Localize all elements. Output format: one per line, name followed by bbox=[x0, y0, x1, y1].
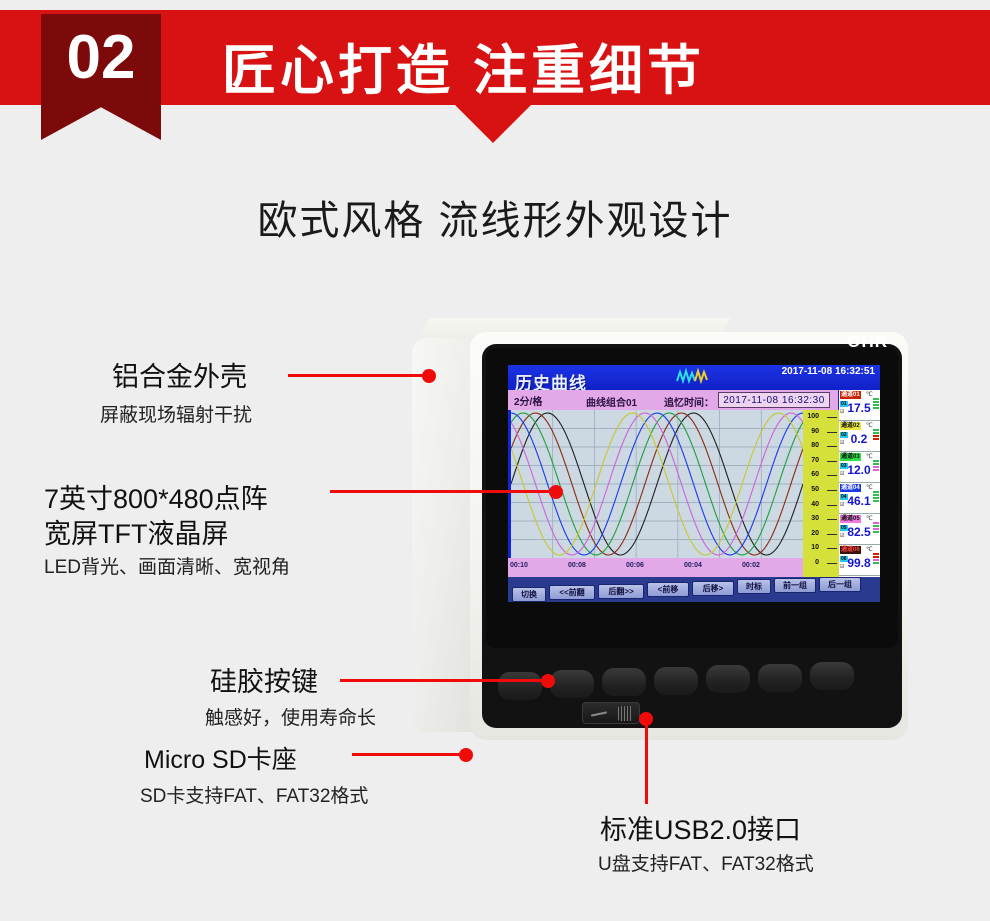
status-bar bbox=[873, 494, 879, 496]
silicone-key[interactable] bbox=[810, 662, 854, 690]
channel-name-tag: 通道05 bbox=[840, 515, 861, 523]
channel-status-bars bbox=[873, 429, 879, 441]
y-axis-tick: 80 bbox=[811, 442, 819, 449]
y-axis-tick-mark bbox=[827, 534, 837, 535]
y-axis-tick: 60 bbox=[811, 471, 819, 478]
channel-value: 17.5 bbox=[847, 401, 871, 415]
channel-unit: ℃ bbox=[866, 422, 873, 429]
x-axis-tick: 00:10 bbox=[510, 562, 528, 569]
y-axis-tick: 50 bbox=[811, 486, 819, 493]
silicone-key[interactable] bbox=[602, 668, 646, 696]
channel-checkbox[interactable]: ☑ bbox=[840, 409, 844, 415]
annotation-usb-title: 标准USB2.0接口 bbox=[600, 808, 801, 847]
silicone-key[interactable] bbox=[550, 670, 594, 698]
channel-name-tag: 通道06 bbox=[840, 546, 861, 554]
recall-time-value[interactable]: 2017-11-08 16:32:30 bbox=[718, 392, 830, 408]
y-axis-strip: 1009080706050403020100 bbox=[803, 410, 839, 577]
y-axis-tick: 20 bbox=[811, 530, 819, 537]
leader-dot-usb bbox=[639, 712, 653, 726]
silicone-key[interactable] bbox=[706, 665, 750, 693]
banner-title: 匠心打造 注重细节 bbox=[222, 26, 705, 105]
leader-dot-keys bbox=[541, 674, 555, 688]
status-bar bbox=[873, 460, 879, 462]
status-bar bbox=[873, 463, 879, 465]
annotation-sdcard-sub: SD卡支持FAT、FAT32格式 bbox=[140, 781, 368, 808]
lcd-info-strip: 2分/格 曲线组合01 追忆时间： 2017-11-08 16:32:30 bbox=[508, 390, 838, 410]
y-axis-tick: 10 bbox=[811, 544, 819, 551]
channel-checkbox[interactable]: ☑ bbox=[840, 533, 844, 539]
channel-unit: ℃ bbox=[866, 546, 873, 553]
silicone-key[interactable] bbox=[498, 672, 542, 700]
status-bar bbox=[873, 528, 879, 530]
status-bar bbox=[873, 407, 879, 409]
channel-row[interactable]: 通道04℃04☑46.1 bbox=[839, 483, 880, 514]
usb-slot bbox=[618, 706, 632, 721]
y-axis-tick-mark bbox=[827, 446, 837, 447]
channel-value: 46.1 bbox=[847, 494, 871, 508]
annotation-screen-sub: LED背光、画面清晰、宽视角 bbox=[44, 552, 290, 579]
silicone-keypad bbox=[498, 662, 888, 702]
status-bar bbox=[873, 497, 879, 499]
status-bar bbox=[873, 553, 879, 555]
lcd-button-0[interactable]: 切换 bbox=[512, 587, 546, 602]
status-bar bbox=[873, 531, 879, 533]
leader-dot-case bbox=[422, 369, 436, 383]
y-axis-tick-mark bbox=[827, 505, 837, 506]
silicone-key[interactable] bbox=[654, 667, 698, 695]
channel-checkbox[interactable]: ☑ bbox=[840, 564, 844, 570]
leader-line-usb bbox=[645, 718, 648, 804]
leader-dot-sdcard bbox=[459, 748, 473, 762]
status-bar bbox=[873, 466, 879, 468]
channel-value: 82.5 bbox=[847, 525, 871, 539]
y-axis-tick-mark bbox=[827, 461, 837, 462]
y-axis-tick-mark bbox=[827, 548, 837, 549]
channel-status-bars bbox=[873, 522, 879, 534]
channel-row[interactable]: 通道01℃01☑17.5 bbox=[839, 390, 880, 421]
annotation-screen-title-2: 宽屏TFT液晶屏 bbox=[44, 512, 228, 551]
status-bar bbox=[873, 559, 879, 561]
channel-panel: 通道01℃01☑17.5通道02℃02☑0.2通道03℃03☑12.0通道04℃… bbox=[839, 390, 880, 577]
channel-name-tag: 通道04 bbox=[840, 484, 861, 492]
channel-name-tag: 通道02 bbox=[840, 422, 861, 430]
y-axis-tick-mark bbox=[827, 417, 837, 418]
banner-notch bbox=[455, 105, 531, 143]
channel-status-bars bbox=[873, 398, 879, 410]
lcd-button-1[interactable]: <<前翻 bbox=[549, 585, 595, 600]
channel-name-tag: 通道03 bbox=[840, 453, 861, 461]
annotation-sdcard-title: Micro SD卡座 bbox=[144, 740, 297, 776]
status-bar bbox=[873, 438, 879, 440]
lcd-clock: 2017-11-08 16:32:51 bbox=[782, 366, 875, 377]
leader-line-keys bbox=[340, 679, 548, 682]
history-curve-plot bbox=[511, 410, 803, 558]
channel-value: 0.2 bbox=[847, 432, 871, 446]
status-bar bbox=[873, 432, 879, 434]
wave-logo-icon bbox=[676, 368, 710, 384]
x-axis-tick: 00:04 bbox=[684, 562, 702, 569]
status-bar bbox=[873, 401, 879, 403]
y-axis-tick: 0 bbox=[815, 559, 819, 566]
section-ribbon: 02 bbox=[41, 14, 161, 140]
usb-port[interactable] bbox=[582, 702, 640, 724]
status-bar bbox=[873, 556, 879, 558]
status-bar bbox=[873, 398, 879, 400]
lcd-button-5[interactable]: 时标 bbox=[737, 579, 771, 594]
status-bar bbox=[873, 429, 879, 431]
status-bar bbox=[873, 404, 879, 406]
channel-row[interactable]: 通道03℃03☑12.0 bbox=[839, 452, 880, 483]
status-bar bbox=[873, 469, 879, 471]
channel-status-bars bbox=[873, 460, 879, 472]
status-bar bbox=[873, 491, 879, 493]
channel-unit: ℃ bbox=[866, 391, 873, 398]
device-illustration: 历史曲线 2017-11-08 16:32:51 2分/格 曲线组合01 追忆时… bbox=[412, 318, 912, 748]
y-axis-tick: 90 bbox=[811, 428, 819, 435]
curve-group-label: 曲线组合01 bbox=[586, 394, 637, 409]
annotation-usb-sub: U盘支持FAT、FAT32格式 bbox=[598, 849, 814, 876]
channel-unit: ℃ bbox=[866, 515, 873, 522]
silicone-key[interactable] bbox=[758, 664, 802, 692]
y-axis-tick-mark bbox=[827, 490, 837, 491]
leader-line-sdcard bbox=[352, 753, 464, 756]
section-number: 02 bbox=[41, 22, 161, 93]
recall-time-label: 追忆时间： bbox=[664, 394, 714, 409]
channel-status-bars bbox=[873, 491, 879, 503]
channel-value: 12.0 bbox=[847, 463, 871, 477]
channel-checkbox[interactable]: ☑ bbox=[840, 502, 844, 508]
y-axis-tick-mark bbox=[827, 432, 837, 433]
lcd-button-2[interactable]: 后翻>> bbox=[598, 584, 644, 599]
x-axis-tick: 00:02 bbox=[742, 562, 760, 569]
channel-row[interactable]: 通道02℃02☑0.2 bbox=[839, 421, 880, 452]
page-subtitle: 欧式风格 流线形外观设计 bbox=[0, 188, 990, 246]
annotation-screen-title-1: 7英寸800*480点阵 bbox=[44, 477, 268, 516]
lcd-button-7[interactable]: 后一组 bbox=[819, 577, 861, 592]
y-axis-tick: 100 bbox=[807, 413, 819, 420]
channel-row[interactable]: 通道05℃05☑82.5 bbox=[839, 514, 880, 545]
y-axis-tick: 30 bbox=[811, 515, 819, 522]
status-bar bbox=[873, 435, 879, 437]
status-bar bbox=[873, 500, 879, 502]
annotation-keys-title: 硅胶按键 bbox=[210, 660, 318, 699]
leader-line-case bbox=[288, 374, 428, 377]
lcd-screen: 历史曲线 2017-11-08 16:32:51 2分/格 曲线组合01 追忆时… bbox=[508, 365, 880, 602]
status-bar bbox=[873, 562, 879, 564]
lcd-button-3[interactable]: <前移 bbox=[647, 582, 689, 597]
annotation-keys-sub: 触感好，使用寿命长 bbox=[205, 703, 376, 730]
lcd-button-6[interactable]: 前一组 bbox=[774, 578, 816, 593]
channel-checkbox[interactable]: ☑ bbox=[840, 471, 844, 477]
channel-status-bars bbox=[873, 553, 879, 565]
y-axis-tick: 40 bbox=[811, 501, 819, 508]
y-axis-tick-mark bbox=[827, 563, 837, 564]
status-bar bbox=[873, 522, 879, 524]
x-axis-tick: 00:08 bbox=[568, 562, 586, 569]
leader-line-screen bbox=[330, 490, 556, 493]
y-axis-tick: 70 bbox=[811, 457, 819, 464]
scale-per-division: 2分/格 bbox=[514, 393, 542, 408]
channel-name-tag: 通道01 bbox=[840, 391, 861, 399]
lcd-button-bar: 切换<<前翻后翻>><前移后移>时标前一组后一组 bbox=[508, 577, 880, 602]
brand-logo: OHR bbox=[847, 332, 888, 352]
annotation-case-title: 铝合金外壳 bbox=[112, 355, 247, 394]
x-axis-strip: 00:1000:0800:0600:0400:02 bbox=[508, 558, 803, 577]
annotation-case-sub: 屏蔽现场辐射干扰 bbox=[100, 400, 252, 427]
y-axis-tick-mark bbox=[827, 519, 837, 520]
channel-checkbox[interactable]: ☑ bbox=[840, 440, 844, 446]
x-axis-tick: 00:06 bbox=[626, 562, 644, 569]
lcd-button-4[interactable]: 后移> bbox=[692, 581, 734, 596]
usb-icon bbox=[591, 711, 607, 716]
leader-dot-screen bbox=[549, 485, 563, 499]
channel-unit: ℃ bbox=[866, 453, 873, 460]
channel-row[interactable]: 通道06℃06☑99.8 bbox=[839, 545, 880, 576]
y-axis-tick-mark bbox=[827, 475, 837, 476]
status-bar bbox=[873, 525, 879, 527]
channel-value: 99.8 bbox=[847, 556, 871, 570]
channel-unit: ℃ bbox=[866, 484, 873, 491]
